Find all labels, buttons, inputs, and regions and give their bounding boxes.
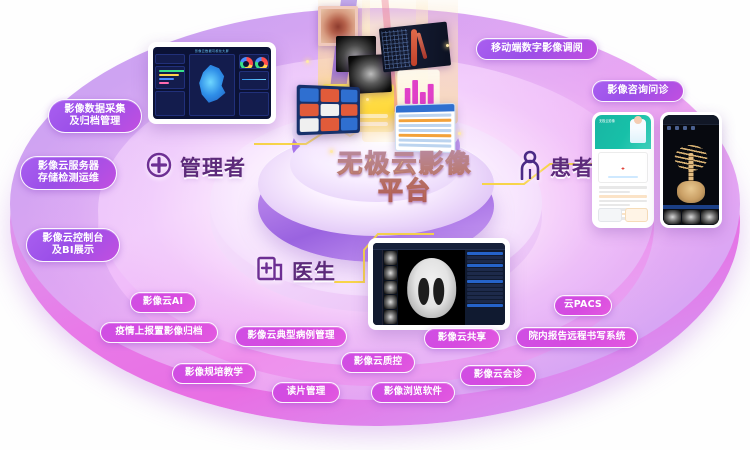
patient-consult-phone[interactable]: 无极云影像 ✚ [592,112,654,228]
role-doctor[interactable]: 医生 [256,255,336,287]
pill-admin-1[interactable]: 影像数据采集及归档管理 [48,99,142,133]
role-admin[interactable]: 管理者 [146,152,246,182]
pill-doctor-6[interactable]: 影像云质控 [341,352,415,373]
role-patient[interactable]: 患者 [518,150,594,184]
pill-doctor-9[interactable]: 影像云会诊 [460,365,536,386]
role-doctor-label: 医生 [292,256,336,286]
pill-patient-2[interactable]: 影像咨询问诊 [592,80,684,102]
pill-doctor-7[interactable]: 影像浏览软件 [371,382,455,403]
pill-patient-1[interactable]: 移动端数字影像调阅 [476,38,598,60]
pill-doctor-5[interactable]: 读片管理 [272,382,340,403]
role-admin-label: 管理者 [180,152,246,182]
medical-record-plus-icon [256,255,284,287]
page-title: 无极云影像平台 [330,150,480,204]
pill-doctor-4[interactable]: 影像云典型病例管理 [235,326,347,347]
angiography-image-thumb [379,22,451,73]
pill-doctor-11[interactable]: 院内报告远程书写系统 [516,327,638,348]
doctor-ct-viewer-screen[interactable] [368,238,510,330]
pill-admin-3[interactable]: 影像云控制台及BI展示 [26,228,120,262]
dashboard-title: 影像云数据可视化大屏 [153,49,271,53]
phone-app-header: 无极云影像 [599,118,615,123]
pill-doctor-10[interactable]: 云PACS [554,295,612,316]
patient-3d-imaging-phone[interactable] [660,112,722,228]
pill-doctor-2[interactable]: 疫情上报置影像归档 [100,322,218,343]
pill-admin-2[interactable]: 影像云服务器存储检测运维 [20,156,117,190]
admin-bi-dashboard-screen[interactable]: 影像云数据可视化大屏 [148,42,276,124]
hospital-plus-circle-icon [146,152,172,182]
infographic-canvas: 无极云影像平台 管理者 患者 医生 [0,0,750,450]
pill-doctor-8[interactable]: 影像云共享 [424,328,500,349]
person-icon [518,150,542,184]
tower-tile-panel [297,85,360,136]
pill-doctor-1[interactable]: 影像云AI [130,292,196,313]
tower-table-panel [395,103,455,153]
pill-doctor-3[interactable]: 影像规培教学 [172,363,256,384]
role-patient-label: 患者 [550,152,594,182]
